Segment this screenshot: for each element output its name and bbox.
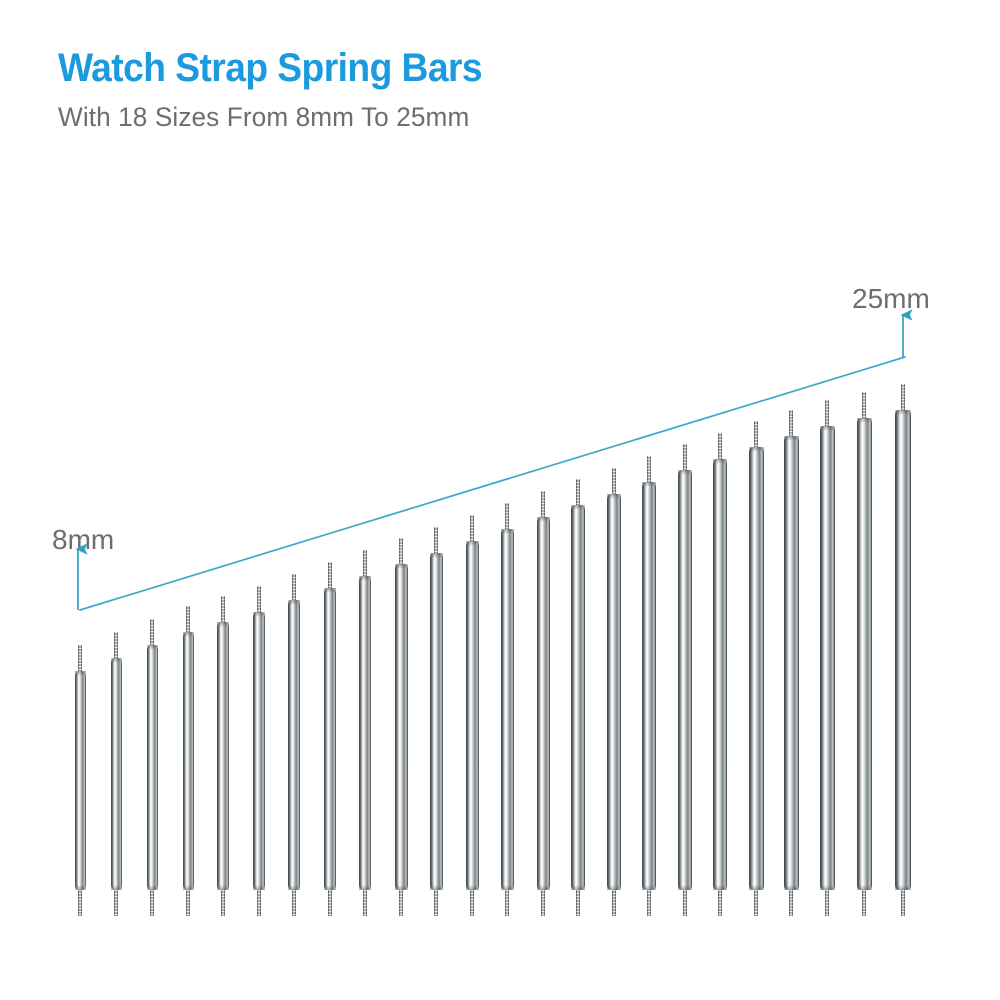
spring-bar-shoulder-top [607,494,621,499]
spring-bar-body [147,645,158,890]
spring-bar-tip-bottom [862,890,866,916]
spring-bar [147,619,158,916]
spring-bar-tip-top [541,491,545,517]
spring-bar-body [895,410,911,890]
spring-bar-body [75,671,86,890]
spring-bar-tip-top [186,606,190,632]
spring-bar-shoulder-top [857,418,872,423]
spring-bar-body [784,436,799,890]
spring-bar-tip-top [505,503,509,529]
spring-bar [75,645,86,916]
spring-bar-shoulder-top [75,671,86,676]
spring-bar-shoulder-top [395,564,408,569]
spring-bar-shoulder-top [501,529,514,534]
spring-bar-body [642,482,656,890]
spring-bar-tip-top [150,619,154,645]
spring-bar-row [0,0,1000,1000]
spring-bar-body [857,418,872,890]
spring-bar-body [749,447,764,890]
spring-bar [537,491,550,916]
spring-bar [183,606,194,916]
spring-bar-tip-bottom [150,890,154,916]
spring-bar-tip-top [363,550,367,576]
spring-bar-body [395,564,408,890]
spring-bar-body [537,517,550,890]
spring-bar-tip-top [754,421,758,447]
spring-bar-shoulder-top [466,541,479,546]
spring-bar-tip-bottom [434,890,438,916]
spring-bar-tip-top [612,468,616,494]
spring-bar [820,400,835,916]
spring-bar-shoulder-top [111,658,122,663]
spring-bar-tip-bottom [576,890,580,916]
spring-bar-body [501,529,514,890]
spring-bar-tip-bottom [683,890,687,916]
spring-bar-tip-bottom [399,890,403,916]
spring-bar-body [820,426,835,890]
spring-bar-body [607,494,621,890]
spring-bar [607,468,621,916]
spring-bar-tip-bottom [825,890,829,916]
spring-bar-tip-top [78,645,82,671]
spring-bar-tip-bottom [901,890,905,916]
spring-bar-body [359,576,371,890]
spring-bar-tip-bottom [541,890,545,916]
spring-bar [253,586,265,916]
spring-bar [359,550,371,916]
spring-bar-tip-top [683,444,687,470]
spring-bar-tip-top [825,400,829,426]
spring-bar-tip-bottom [470,890,474,916]
spring-bar [217,596,229,916]
spring-bar-shoulder-top [642,482,656,487]
spring-bar [466,515,479,916]
spring-bar-tip-bottom [789,890,793,916]
spring-bar-tip-bottom [505,890,509,916]
spring-bar-tip-top [862,392,866,418]
spring-bar-tip-top [114,632,118,658]
spring-bar-body [217,622,229,890]
spring-bar-tip-top [789,410,793,436]
spring-bar [642,456,656,916]
spring-bar-body [183,632,194,890]
spring-bar-tip-bottom [186,890,190,916]
spring-bar-shoulder-top [537,517,550,522]
spring-bar-shoulder-top [430,553,443,558]
spring-bar-tip-bottom [328,890,332,916]
spring-bar-tip-top [434,527,438,553]
spring-bar-tip-bottom [718,890,722,916]
spring-bar-tip-bottom [754,890,758,916]
spring-bar [501,503,514,916]
spring-bar [784,410,799,916]
spring-bar-body [571,505,585,890]
spring-bar [395,538,408,916]
spring-bar-tip-top [221,596,225,622]
spring-bar-shoulder-top [147,645,158,650]
spring-bar-shoulder-top [820,426,835,431]
spring-bar [749,421,764,916]
spring-bar [111,632,122,916]
spring-bar-shoulder-top [359,576,371,581]
spring-bar-tip-top [257,586,261,612]
spring-bar-shoulder-top [895,410,911,415]
spring-bar-body [430,553,443,890]
spring-bar-tip-top [647,456,651,482]
spring-bar-tip-bottom [647,890,651,916]
spring-bar-tip-top [470,515,474,541]
spring-bar-body [253,612,265,890]
spring-bar [430,527,443,916]
spring-bar-body [324,588,336,890]
spring-bar-body [678,470,692,890]
spring-bar [288,574,300,916]
spring-bar-body [288,600,300,890]
spring-bar [895,384,911,916]
spring-bar-tip-top [292,574,296,600]
spring-bar-tip-bottom [292,890,296,916]
spring-bar-tip-bottom [257,890,261,916]
spring-bar-shoulder-top [678,470,692,475]
spring-bar-body [111,658,122,890]
spring-bar-tip-bottom [78,890,82,916]
spring-bar-tip-top [718,433,722,459]
spring-bar-shoulder-top [749,447,764,452]
spring-bar-shoulder-top [784,436,799,441]
spring-bar-shoulder-top [217,622,229,627]
spring-bar-tip-top [328,562,332,588]
spring-bar-shoulder-top [571,505,585,510]
spring-bar [571,479,585,916]
spring-bar-shoulder-top [288,600,300,605]
spring-bar-shoulder-top [253,612,265,617]
spring-bar-shoulder-top [183,632,194,637]
spring-bar-tip-bottom [363,890,367,916]
spring-bar-tip-top [576,479,580,505]
spring-bar-body [466,541,479,890]
spring-bar-shoulder-top [324,588,336,593]
spring-bar-tip-top [901,384,905,410]
spring-bar-tip-top [399,538,403,564]
spring-bar [857,392,872,916]
spring-bar [713,433,727,916]
spring-bar-tip-bottom [221,890,225,916]
spring-bar [678,444,692,916]
spring-bar-shoulder-top [713,459,727,464]
product-infographic: Watch Strap Spring Bars With 18 Sizes Fr… [0,0,1000,1000]
spring-bar-tip-bottom [114,890,118,916]
spring-bar-tip-bottom [612,890,616,916]
spring-bar-body [713,459,727,890]
spring-bar [324,562,336,916]
